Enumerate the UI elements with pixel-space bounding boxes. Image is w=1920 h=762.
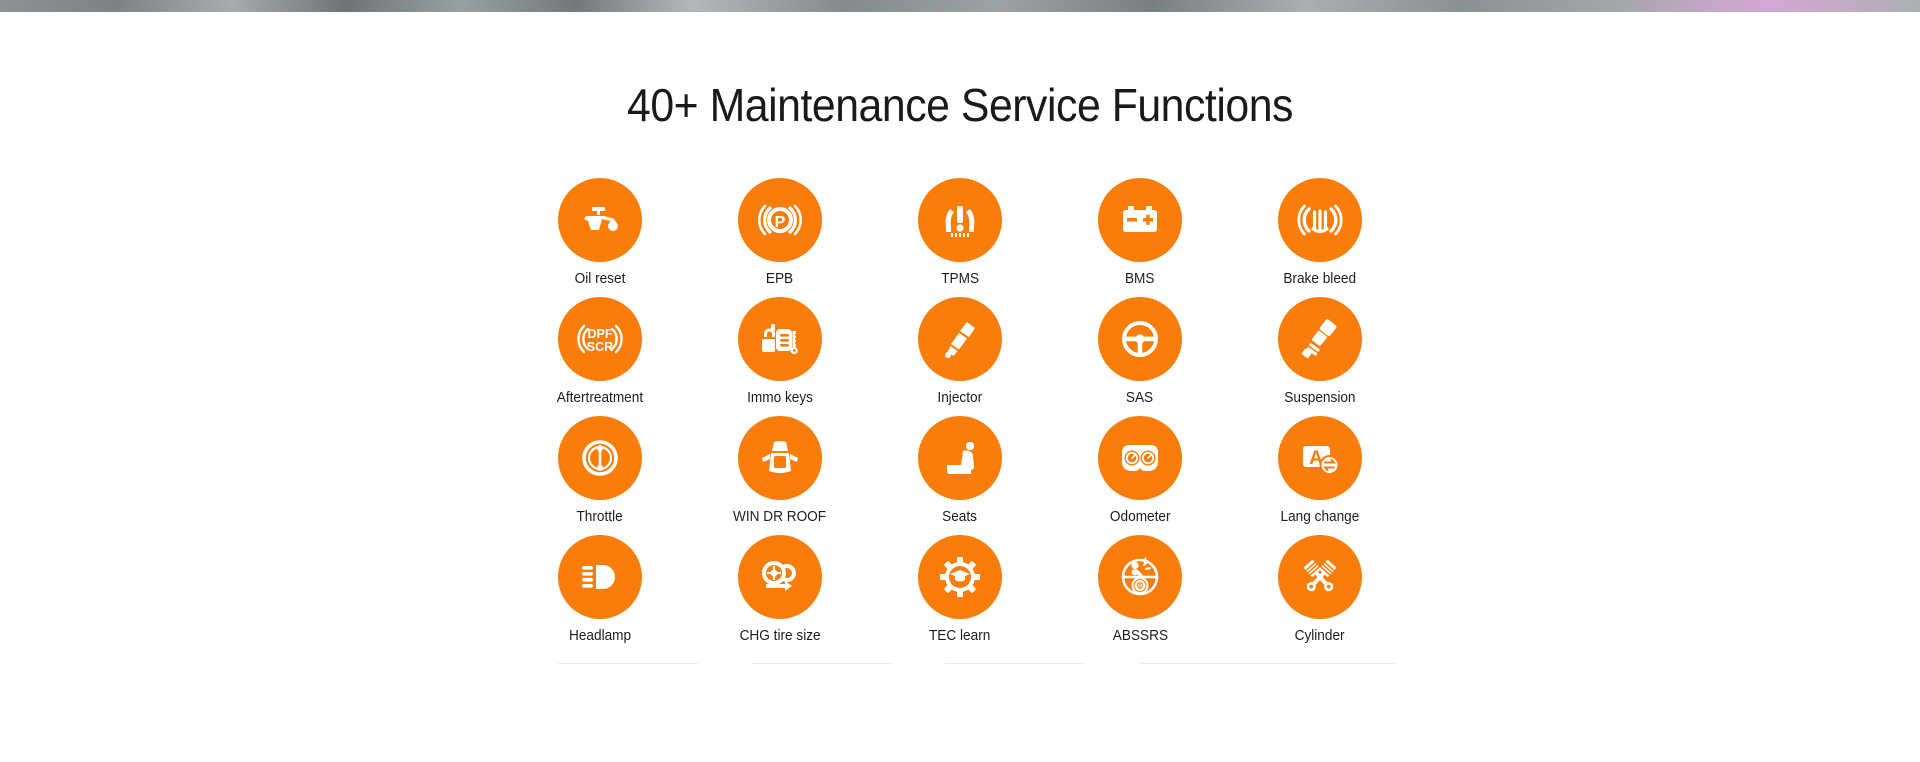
function-item-oil-reset[interactable]: Oil reset xyxy=(510,178,690,297)
function-icon-badge xyxy=(558,416,642,500)
brake-disc-icon xyxy=(1296,196,1344,244)
row-divider xyxy=(558,663,698,664)
function-item-cylinder[interactable]: Cylinder xyxy=(1230,535,1410,654)
function-label: Headlamp xyxy=(569,628,631,644)
function-label: Odometer xyxy=(1110,509,1171,525)
language-swap-icon: A xyxy=(1296,434,1344,482)
function-icon-badge xyxy=(1278,297,1362,381)
steering-wheel-icon xyxy=(1116,315,1164,363)
function-item-headlamp[interactable]: Headlamp xyxy=(510,535,690,654)
function-label: Lang change xyxy=(1281,509,1360,525)
dual-gauge-icon xyxy=(1116,434,1164,482)
function-label: Seats xyxy=(943,509,978,525)
tire-pressure-icon xyxy=(936,196,984,244)
headlight-beam-icon xyxy=(576,553,624,601)
svg-text:ABS: ABS xyxy=(1134,584,1146,590)
function-item-chg-tire-size[interactable]: CHG tire size xyxy=(690,535,870,654)
function-label: Injector xyxy=(938,390,983,406)
function-label: Throttle xyxy=(577,509,623,525)
function-label: Brake bleed xyxy=(1284,271,1357,287)
row-divider xyxy=(1255,663,1395,664)
function-item-tpms[interactable]: TPMS xyxy=(870,178,1050,297)
function-label: Immo keys xyxy=(747,390,813,406)
function-item-odometer[interactable]: Odometer xyxy=(1050,416,1230,535)
function-icon-badge xyxy=(918,297,1002,381)
function-icon-badge: DPF SCR xyxy=(558,297,642,381)
dpf-scr-icon: DPF SCR xyxy=(576,315,624,363)
function-label: Oil reset xyxy=(575,271,626,287)
svg-text:P: P xyxy=(775,214,786,231)
function-icon-badge: P xyxy=(738,178,822,262)
function-icon-badge xyxy=(738,416,822,500)
function-label: EPB xyxy=(766,271,793,287)
svg-text:DPF: DPF xyxy=(588,327,613,341)
function-item-abssrs[interactable]: ABS ABSSRS xyxy=(1050,535,1230,654)
lock-key-icon xyxy=(756,315,804,363)
function-icon-badge xyxy=(738,535,822,619)
maintenance-functions-page: 40+ Maintenance Service Functions Oil re… xyxy=(0,0,1920,762)
function-icon-badge: ABS xyxy=(1098,535,1182,619)
function-icon-badge xyxy=(1098,416,1182,500)
function-icon-badge xyxy=(1098,178,1182,262)
function-item-tec-learn[interactable]: TEC learn xyxy=(870,535,1050,654)
battery-icon xyxy=(1116,196,1164,244)
function-label: SAS xyxy=(1126,390,1153,406)
function-item-aftertreatment[interactable]: DPF SCR Aftertreatment xyxy=(510,297,690,416)
function-label: TPMS xyxy=(941,271,979,287)
row-divider xyxy=(752,663,892,664)
function-label: CHG tire size xyxy=(739,628,820,644)
tire-size-change-icon xyxy=(756,553,804,601)
function-label: BMS xyxy=(1125,271,1155,287)
function-item-win-dr-roof[interactable]: WIN DR ROOF xyxy=(690,416,870,535)
function-item-brake-bleed[interactable]: Brake bleed xyxy=(1230,178,1410,297)
page-title: 40+ Maintenance Service Functions xyxy=(67,78,1853,132)
function-icon-badge xyxy=(558,178,642,262)
car-top-view-icon xyxy=(756,434,804,482)
oil-can-icon xyxy=(576,196,624,244)
function-label: Cylinder xyxy=(1295,628,1345,644)
parking-brake-icon: P xyxy=(756,196,804,244)
function-item-throttle[interactable]: Throttle xyxy=(510,416,690,535)
function-item-sas[interactable]: SAS xyxy=(1050,297,1230,416)
function-icon-badge xyxy=(1278,178,1362,262)
function-item-bms[interactable]: BMS xyxy=(1050,178,1230,297)
function-item-injector[interactable]: Injector xyxy=(870,297,1050,416)
top-photo-strip xyxy=(0,0,1920,12)
row-divider xyxy=(945,663,1085,664)
car-seat-icon xyxy=(936,434,984,482)
function-label: Suspension xyxy=(1284,390,1355,406)
function-icon-badge xyxy=(558,535,642,619)
function-icon-badge xyxy=(918,535,1002,619)
functions-grid: Oil reset P EPB xyxy=(510,178,1410,654)
function-label: Aftertreatment xyxy=(557,390,643,406)
function-icon-badge xyxy=(918,416,1002,500)
function-icon-badge xyxy=(1098,297,1182,381)
function-label: TEC learn xyxy=(929,628,990,644)
airbag-abs-icon: ABS xyxy=(1116,553,1164,601)
function-label: WIN DR ROOF xyxy=(733,509,826,525)
gear-graduation-icon xyxy=(936,553,984,601)
function-icon-badge: A xyxy=(1278,416,1362,500)
shock-absorber-icon xyxy=(1296,315,1344,363)
function-label: ABSSRS xyxy=(1112,628,1167,644)
svg-text:SCR: SCR xyxy=(587,340,613,354)
pistons-icon xyxy=(1296,553,1344,601)
function-item-seats[interactable]: Seats xyxy=(870,416,1050,535)
function-item-suspension[interactable]: Suspension xyxy=(1230,297,1410,416)
function-icon-badge xyxy=(918,178,1002,262)
function-item-immo-keys[interactable]: Immo keys xyxy=(690,297,870,416)
fuel-injector-icon xyxy=(936,315,984,363)
function-item-epb[interactable]: P EPB xyxy=(690,178,870,297)
function-item-lang-change[interactable]: A Lang change xyxy=(1230,416,1410,535)
throttle-body-icon xyxy=(576,434,624,482)
function-icon-badge xyxy=(738,297,822,381)
function-icon-badge xyxy=(1278,535,1362,619)
